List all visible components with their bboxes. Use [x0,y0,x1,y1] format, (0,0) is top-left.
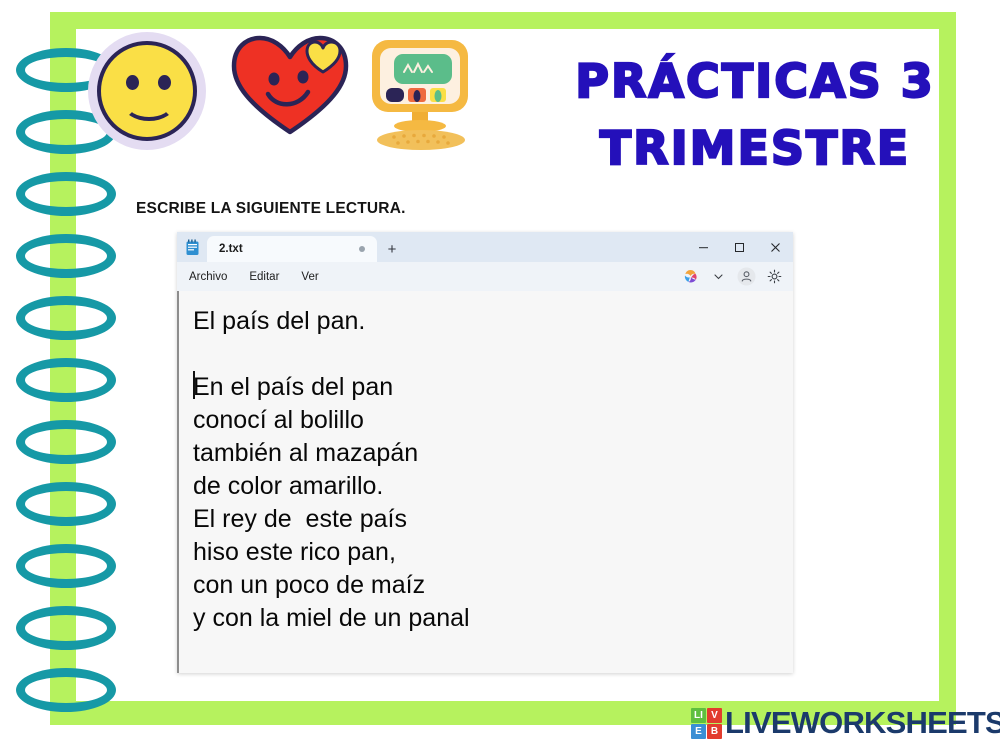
document-line: conocí al bolillo [193,404,793,437]
notepad-toolbar-right [677,262,787,291]
maximize-button[interactable] [721,232,757,262]
document-line: con un poco de maíz [193,569,793,602]
document-line: de color amarillo. [193,470,793,503]
copilot-icon[interactable] [677,264,703,290]
page-title: PRÁCTICAS 3 TRIMESTRE [560,48,950,181]
menu-ver[interactable]: Ver [301,271,318,283]
logo-cell-v: V [707,708,722,723]
account-avatar-icon[interactable] [733,264,759,290]
instruction-text: ESCRIBE LA SIGUIENTE LECTURA. [136,200,406,218]
notepad-titlebar[interactable]: 2.txt + [177,232,793,262]
document-line [193,338,793,371]
document-line: El país del pan. [193,305,793,338]
spiral-ring [16,668,116,712]
menu-editar[interactable]: Editar [249,271,279,283]
minimize-button[interactable] [685,232,721,262]
spiral-ring [16,544,116,588]
logo-wordmark: LIVEWORKSHEETS [725,705,1000,741]
title-line-1: PRÁCTICAS 3 [560,48,950,115]
spiral-ring [16,606,116,650]
smiley-face-icon [88,32,206,150]
logo-cell-e: E [691,724,706,739]
menu-archivo[interactable]: Archivo [189,271,227,283]
close-button[interactable] [757,232,793,262]
logo-cell-b: B [707,724,722,739]
notepad-text-editor[interactable]: El país del pan. En el país del panconoc… [177,291,793,673]
notepad-window: 2.txt + Archivo Editar Ver [177,232,793,673]
retro-computer-icon [366,36,476,152]
smiley-mouth [123,87,175,121]
spiral-ring [16,296,116,340]
liveworksheets-logo: LI V E B LIVEWORKSHEETS [691,705,1000,741]
document-line: y con la miel de un panal [193,602,793,635]
tab-2-txt[interactable]: 2.txt [207,236,377,262]
settings-gear-icon[interactable] [761,264,787,290]
notepad-menubar: Archivo Editar Ver [177,262,793,291]
notepad-icon [177,232,207,262]
document-content: El país del pan. En el país del panconoc… [193,305,793,635]
spiral-ring [16,482,116,526]
new-tab-button[interactable]: + [377,236,407,262]
spiral-ring [16,358,116,402]
tab-unsaved-dot-icon[interactable] [359,246,365,252]
document-line: también al mazapán [193,437,793,470]
document-line: En el país del pan [193,371,793,404]
window-controls [685,232,793,262]
title-line-2: TRIMESTRE [560,115,950,182]
logo-letter-grid: LI V E B [691,708,722,739]
logo-cell-li: LI [691,708,706,723]
worksheet-page: PRÁCTICAS 3 TRIMESTRE ESCRIBE LA SIGUIEN… [0,0,1000,750]
document-line: hiso este rico pan, [193,536,793,569]
spiral-ring [16,234,116,278]
spiral-ring [16,172,116,216]
text-caret [193,371,195,399]
smiley-face-circle [97,41,197,141]
document-line: El rey de este país [193,503,793,536]
smiling-heart-icon [228,32,352,137]
spiral-ring [16,420,116,464]
tab-label: 2.txt [219,243,351,255]
chevron-down-icon[interactable] [705,264,731,290]
